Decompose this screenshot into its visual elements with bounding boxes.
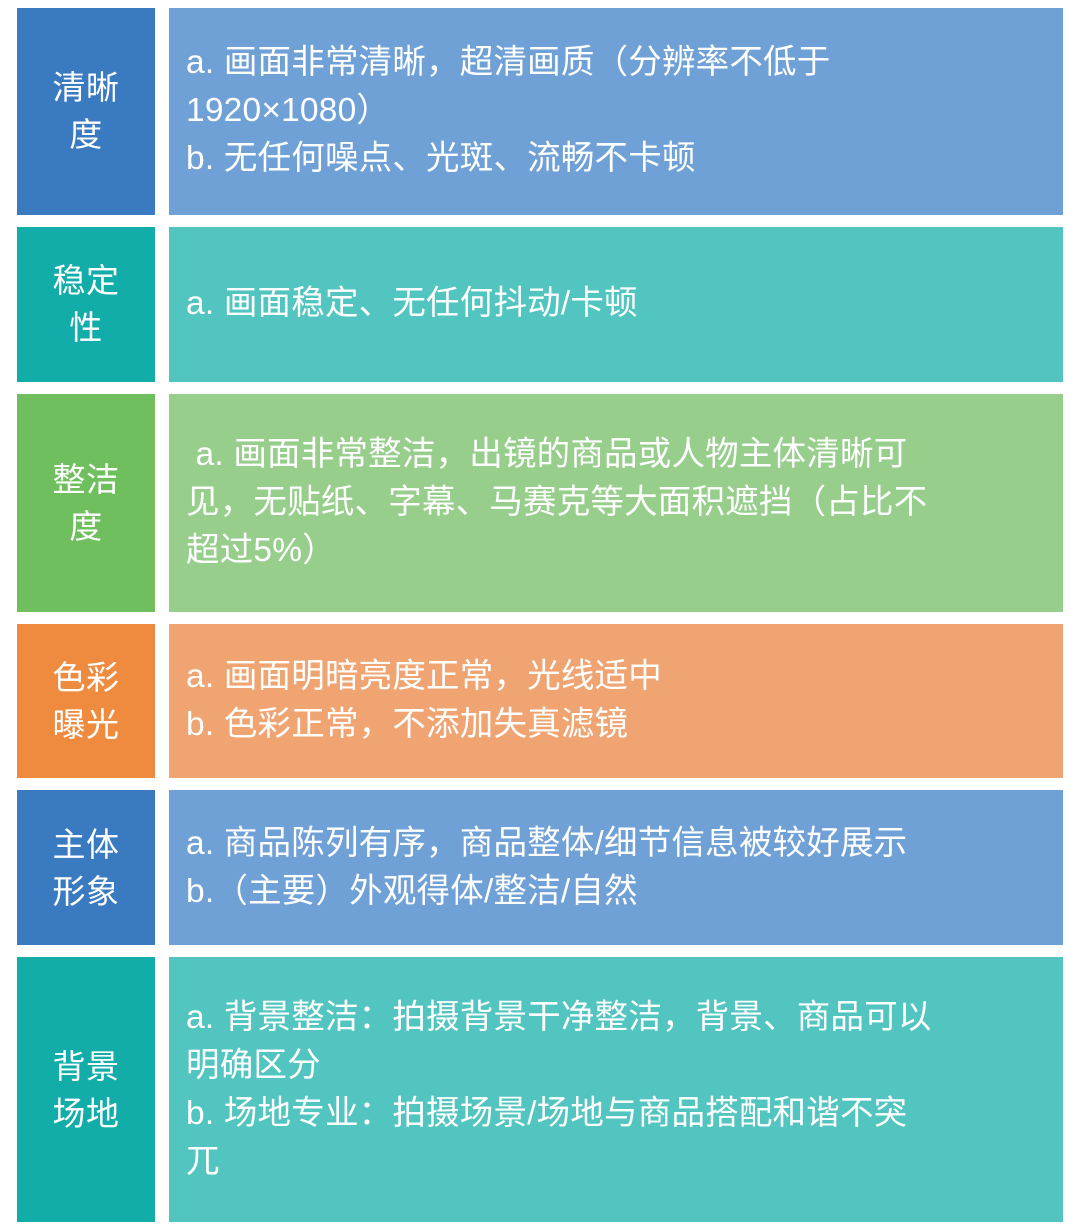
table-row-subject-image: 主体 形象 a. 商品陈列有序，商品整体/细节信息被较好展示 b.（主要）外观得… [17, 790, 1063, 945]
row-label-line-1: 整洁 [53, 456, 120, 503]
row-label-line-2: 度 [53, 111, 120, 158]
table-row-background-venue: 背景 场地 a. 背景整洁：拍摄背景干净整洁，背景、商品可以 明确区分 b. 场… [17, 957, 1063, 1222]
row-text-line: b. 场地专业：拍摄场景/场地与商品搭配和谐不突 [186, 1090, 1051, 1138]
row-label-line-2: 性 [53, 304, 120, 351]
row-label-line-2: 曝光 [53, 701, 120, 748]
row-label-color-exposure: 色彩 曝光 [17, 624, 155, 779]
row-label-line-2: 场地 [53, 1090, 120, 1137]
table-row-clarity: 清晰 度 a. 画面非常清晰，超清画质（分辨率不低于 1920×1080） b.… [17, 8, 1063, 215]
row-text-line: a. 画面稳定、无任何抖动/卡顿 [186, 280, 1051, 328]
row-text-line: b.（主要）外观得体/整洁/自然 [186, 868, 1051, 916]
row-text-line: a. 背景整洁：拍摄背景干净整洁，背景、商品可以 [186, 994, 1051, 1042]
row-label-subject-image: 主体 形象 [17, 790, 155, 945]
row-label-line-1: 背景 [53, 1043, 120, 1090]
table-row-tidiness: 整洁 度 a. 画面非常整洁，出镜的商品或人物主体清晰可 见，无贴纸、字幕、马赛… [17, 394, 1063, 612]
row-text-line: a. 画面非常清晰，超清画质（分辨率不低于 [186, 39, 1051, 87]
row-body-tidiness: a. 画面非常整洁，出镜的商品或人物主体清晰可 见，无贴纸、字幕、马赛克等大面积… [169, 394, 1063, 612]
row-label-background-venue: 背景 场地 [17, 957, 155, 1222]
row-label-line-1: 清晰 [53, 64, 120, 111]
row-body-color-exposure: a. 画面明暗亮度正常，光线适中 b. 色彩正常，不添加失真滤镜 [169, 624, 1063, 779]
table-row-color-exposure: 色彩 曝光 a. 画面明暗亮度正常，光线适中 b. 色彩正常，不添加失真滤镜 [17, 624, 1063, 779]
row-body-background-venue: a. 背景整洁：拍摄背景干净整洁，背景、商品可以 明确区分 b. 场地专业：拍摄… [169, 957, 1063, 1222]
row-label-stability: 稳定 性 [17, 227, 155, 382]
row-text-line: 超过5%） [186, 527, 1051, 575]
row-text-line: b. 无任何噪点、光斑、流畅不卡顿 [186, 135, 1051, 183]
row-label-line-1: 主体 [53, 821, 120, 868]
row-label-clarity: 清晰 度 [17, 8, 155, 215]
row-text-line: 明确区分 [186, 1042, 1051, 1090]
row-text-line: 1920×1080） [186, 87, 1051, 135]
row-body-clarity: a. 画面非常清晰，超清画质（分辨率不低于 1920×1080） b. 无任何噪… [169, 8, 1063, 215]
row-label-line-1: 色彩 [53, 654, 120, 701]
row-label-line-2: 度 [53, 503, 120, 550]
row-text-line: 兀 [186, 1138, 1051, 1186]
row-body-stability: a. 画面稳定、无任何抖动/卡顿 [169, 227, 1063, 382]
table-row-stability: 稳定 性 a. 画面稳定、无任何抖动/卡顿 [17, 227, 1063, 382]
row-text-line: 见，无贴纸、字幕、马赛克等大面积遮挡（占比不 [186, 479, 1051, 527]
row-text-line: a. 画面明暗亮度正常，光线适中 [186, 653, 1051, 701]
row-body-subject-image: a. 商品陈列有序，商品整体/细节信息被较好展示 b.（主要）外观得体/整洁/自… [169, 790, 1063, 945]
row-label-line-1: 稳定 [53, 257, 120, 304]
row-text-line: a. 画面非常整洁，出镜的商品或人物主体清晰可 [186, 431, 1051, 479]
row-label-line-2: 形象 [53, 868, 120, 915]
criteria-table: 清晰 度 a. 画面非常清晰，超清画质（分辨率不低于 1920×1080） b.… [0, 0, 1080, 1230]
row-label-tidiness: 整洁 度 [17, 394, 155, 612]
row-text-line: a. 商品陈列有序，商品整体/细节信息被较好展示 [186, 820, 1051, 868]
row-text-line: b. 色彩正常，不添加失真滤镜 [186, 701, 1051, 749]
